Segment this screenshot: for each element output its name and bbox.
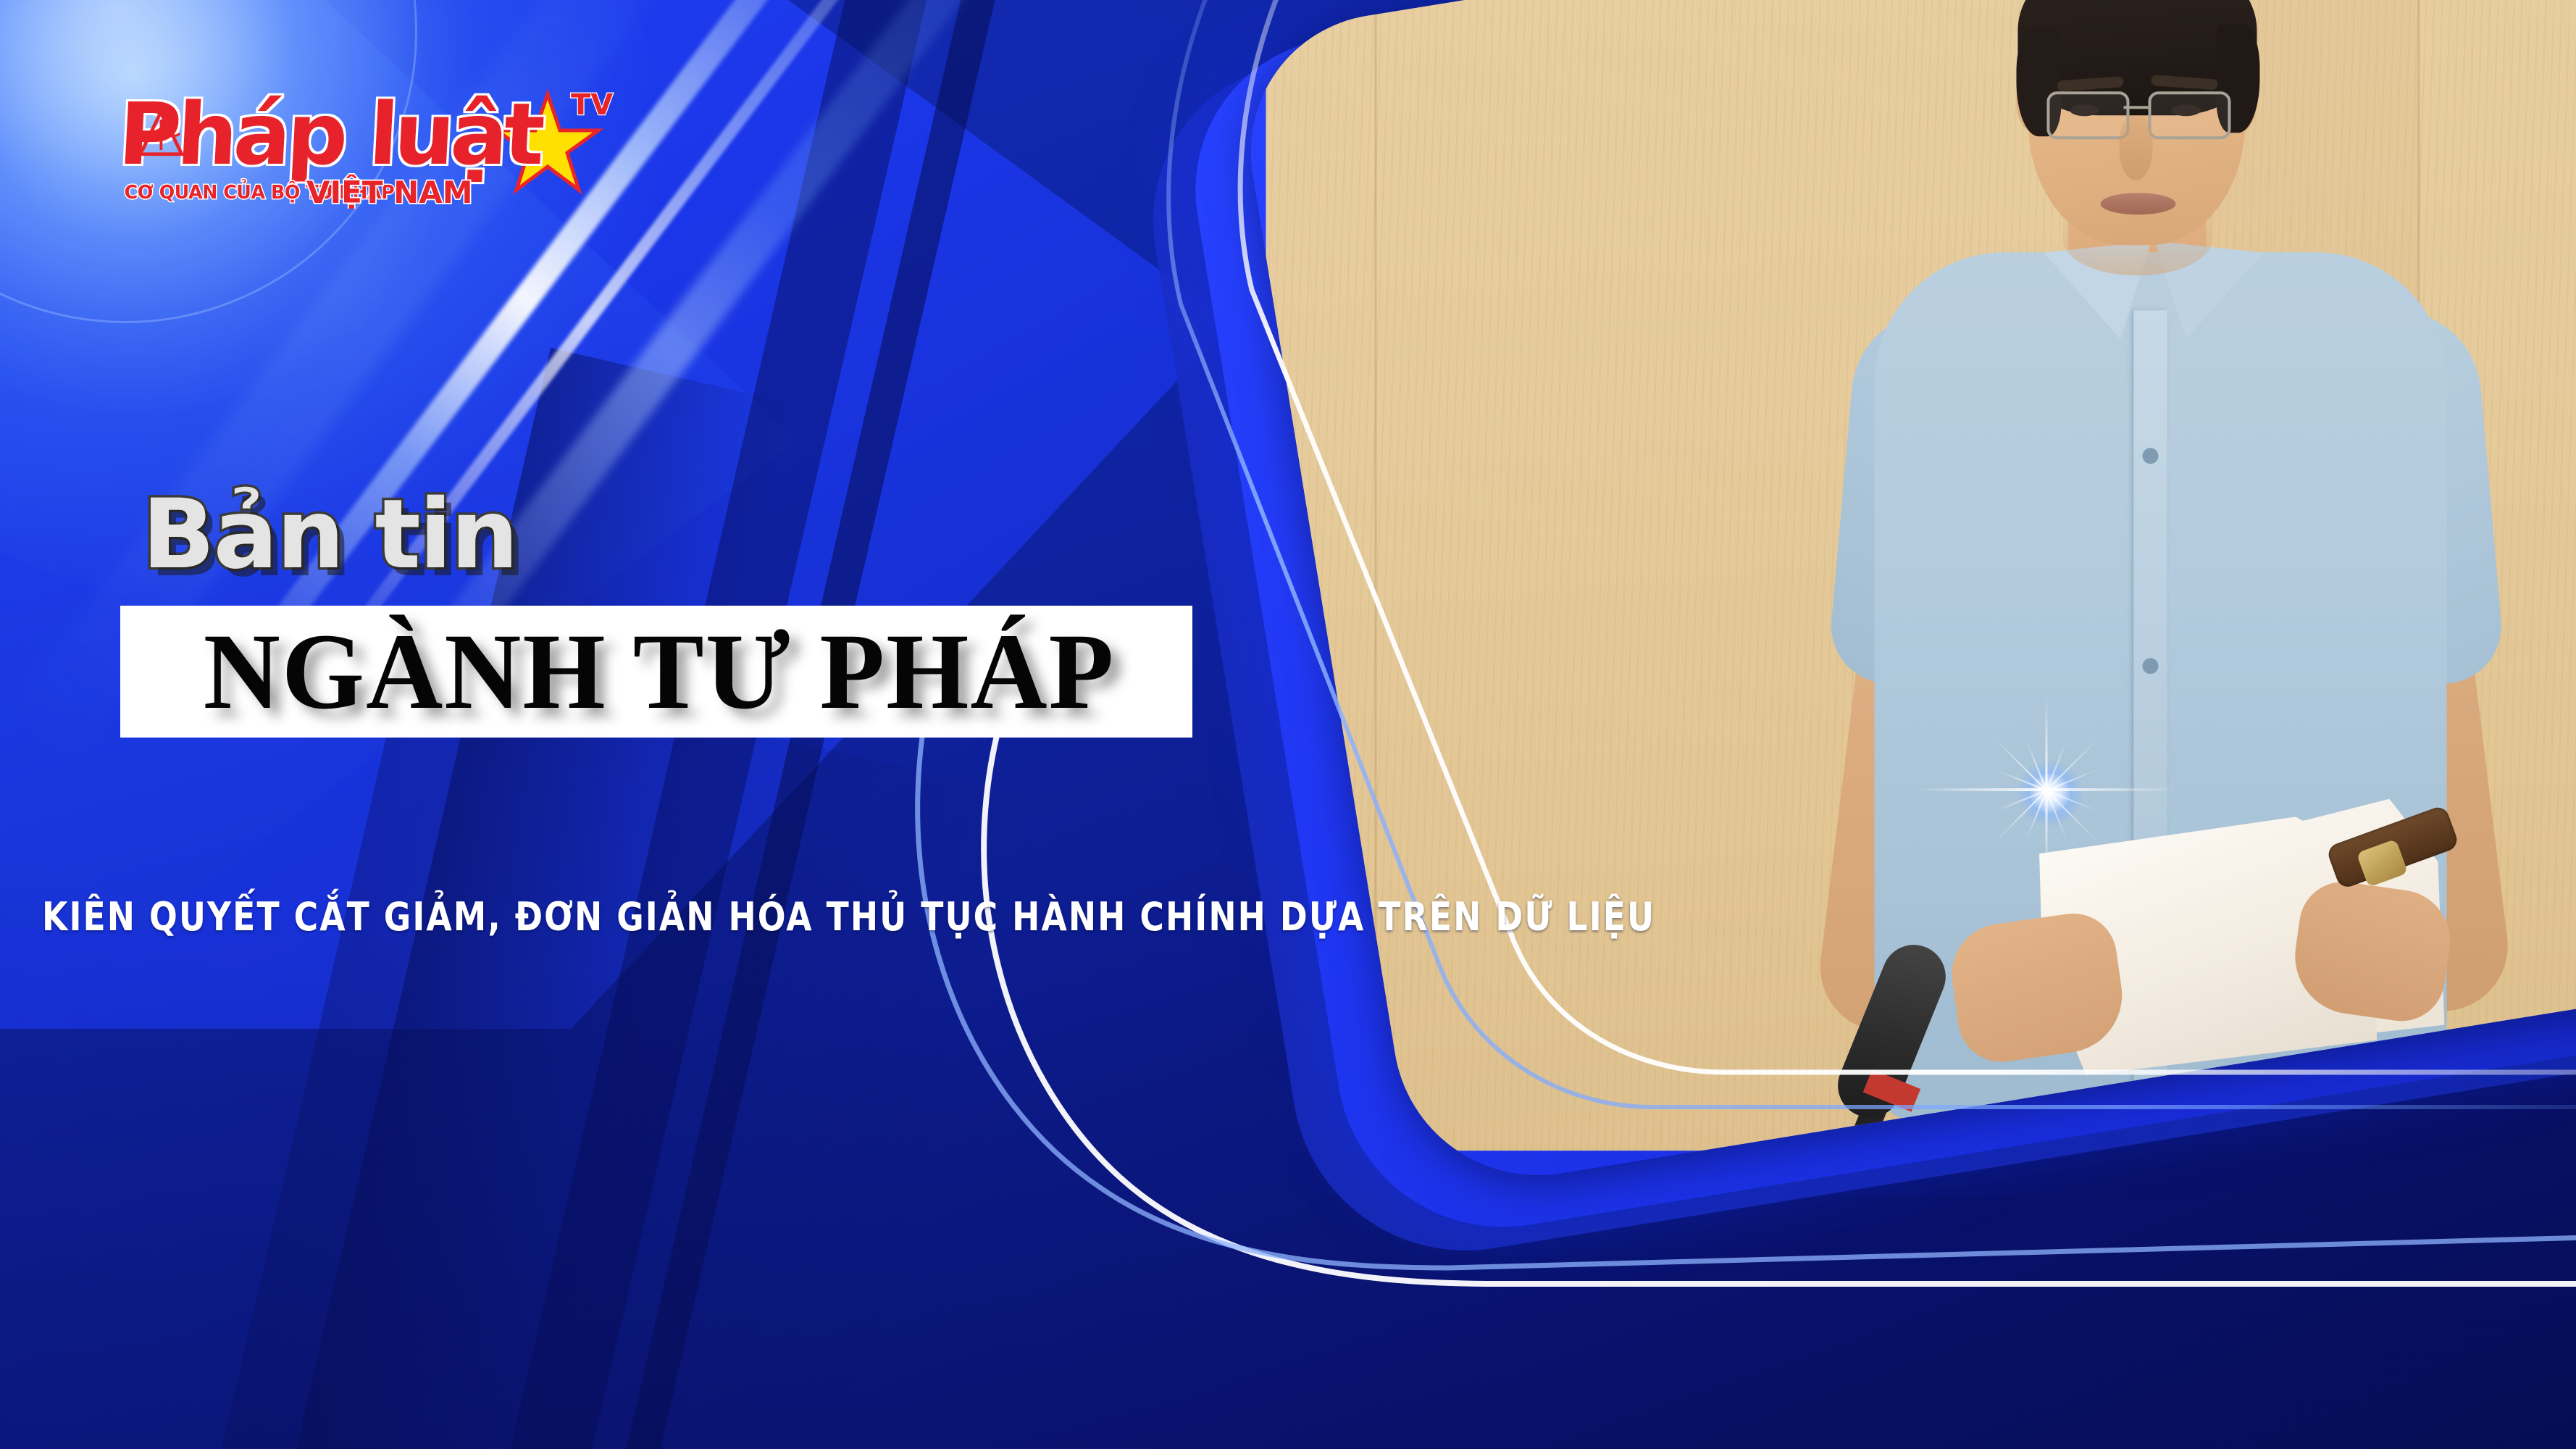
eyeglasses-icon	[2148, 91, 2230, 139]
person-figure	[1773, 0, 2569, 1107]
broadcast-thumbnail: Pháp luật TV CƠ QUAN CỦA BỘ TƯ PHÁP VIỆT…	[0, 0, 2576, 1449]
photo-frame	[1231, 0, 2576, 1196]
brand-tv-badge: TV	[571, 88, 613, 122]
show-title-banner: NGÀNH TƯ PHÁP	[120, 606, 1192, 738]
lens-flare-icon	[2046, 790, 2054, 797]
photo-panel	[1174, 0, 2576, 1188]
brand-logo[interactable]: Pháp luật TV CƠ QUAN CỦA BỘ TƯ PHÁP VIỆT…	[114, 78, 622, 209]
news-headline: KIÊN QUYẾT CẮT GIẢM, ĐƠN GIẢN HÓA THỦ TỤ…	[42, 895, 1655, 938]
brand-logo-svg: Pháp luật TV CƠ QUAN CỦA BỘ TƯ PHÁP VIỆT…	[114, 78, 622, 209]
show-kicker: Bản tin	[142, 487, 517, 582]
photo-image	[1266, 0, 2576, 1151]
brand-wordmark: Pháp luật	[116, 84, 545, 184]
show-title: NGÀNH TƯ PHÁP	[127, 606, 1192, 738]
eyeglasses-icon	[2046, 91, 2129, 139]
brand-country: VIỆT NAM	[306, 174, 473, 209]
